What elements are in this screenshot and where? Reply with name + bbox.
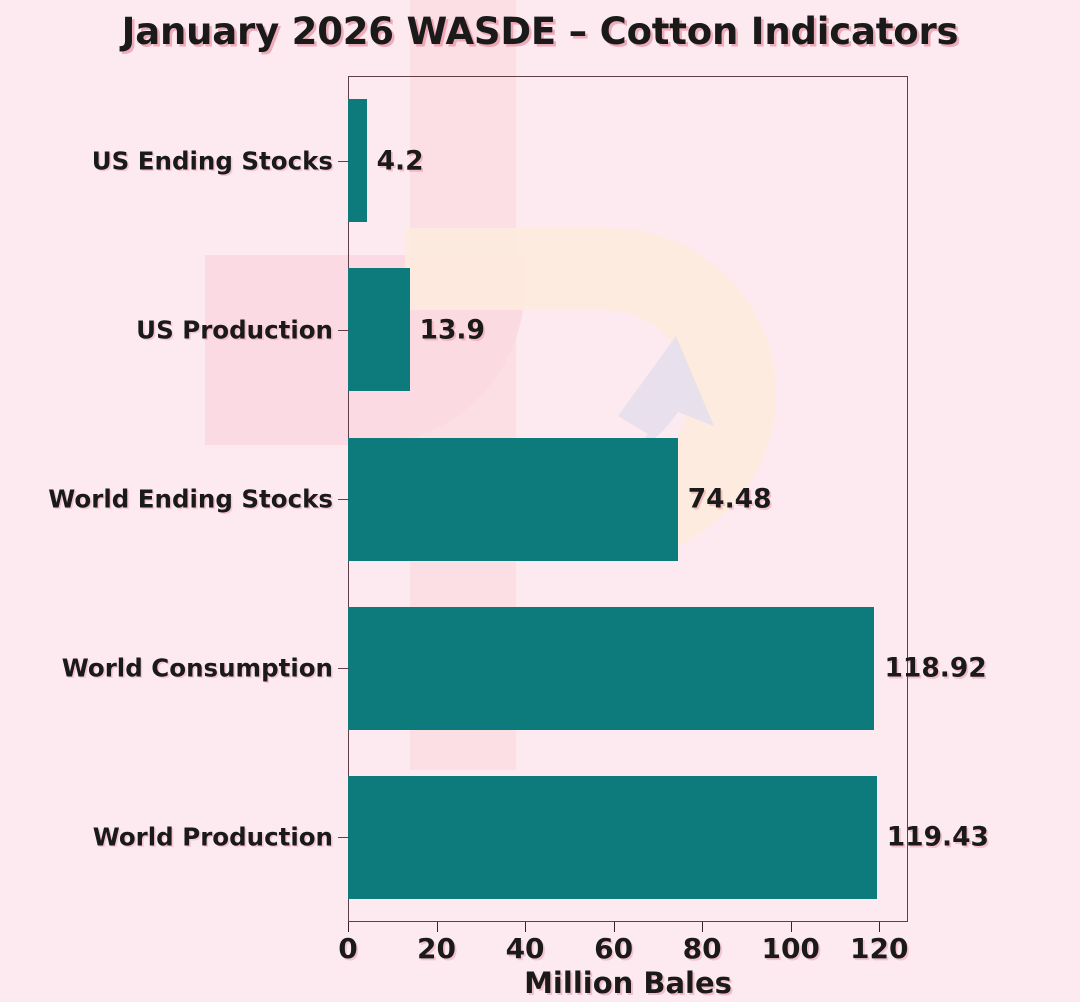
y-axis-label-world-ending-stocks: World Ending Stocks: [48, 485, 333, 514]
x-axis-tick-label: 0: [338, 932, 357, 965]
x-axis-tick: [791, 922, 792, 932]
bar-value-label: 118.92: [884, 653, 986, 684]
x-axis-tick-label: 60: [594, 932, 633, 965]
y-axis-tick: [338, 668, 349, 669]
chart-title: January 2026 WASDE – Cotton Indicators: [0, 10, 1080, 53]
y-axis-label-us-ending-stocks: US Ending Stocks: [92, 146, 333, 175]
x-axis-tick: [348, 922, 349, 932]
bar-value-label: 4.2: [377, 145, 424, 176]
bar: [348, 776, 877, 899]
bar-value-label: 74.48: [688, 484, 772, 515]
x-axis-tick: [702, 922, 703, 932]
bar-value-label: 13.9: [420, 314, 485, 345]
x-axis-tick-label: 20: [417, 932, 456, 965]
y-axis-tick: [338, 330, 349, 331]
y-axis-tick: [338, 837, 349, 838]
bar: [348, 607, 874, 730]
bar-value-label: 119.43: [887, 822, 989, 853]
chart-figure: January 2026 WASDE – Cotton Indicators 1…: [0, 0, 1080, 1002]
y-axis-label-us-production: US Production: [136, 315, 333, 344]
x-axis-tick-label: 40: [506, 932, 545, 965]
x-axis-tick: [437, 922, 438, 932]
y-axis-label-world-consumption: World Consumption: [62, 654, 333, 683]
x-axis-tick: [614, 922, 615, 932]
bar: [348, 438, 678, 561]
y-axis-tick: [338, 161, 349, 162]
x-axis-tick: [525, 922, 526, 932]
x-axis-tick-label: 80: [683, 932, 722, 965]
bar: [348, 99, 367, 222]
y-axis-tick: [338, 499, 349, 500]
x-axis-tick-label: 120: [850, 932, 908, 965]
bar: [348, 268, 410, 391]
y-axis-label-world-production: World Production: [93, 823, 333, 852]
x-axis-tick: [879, 922, 880, 932]
x-axis-tick-label: 100: [761, 932, 819, 965]
x-axis-title: Million Bales: [348, 966, 908, 1000]
